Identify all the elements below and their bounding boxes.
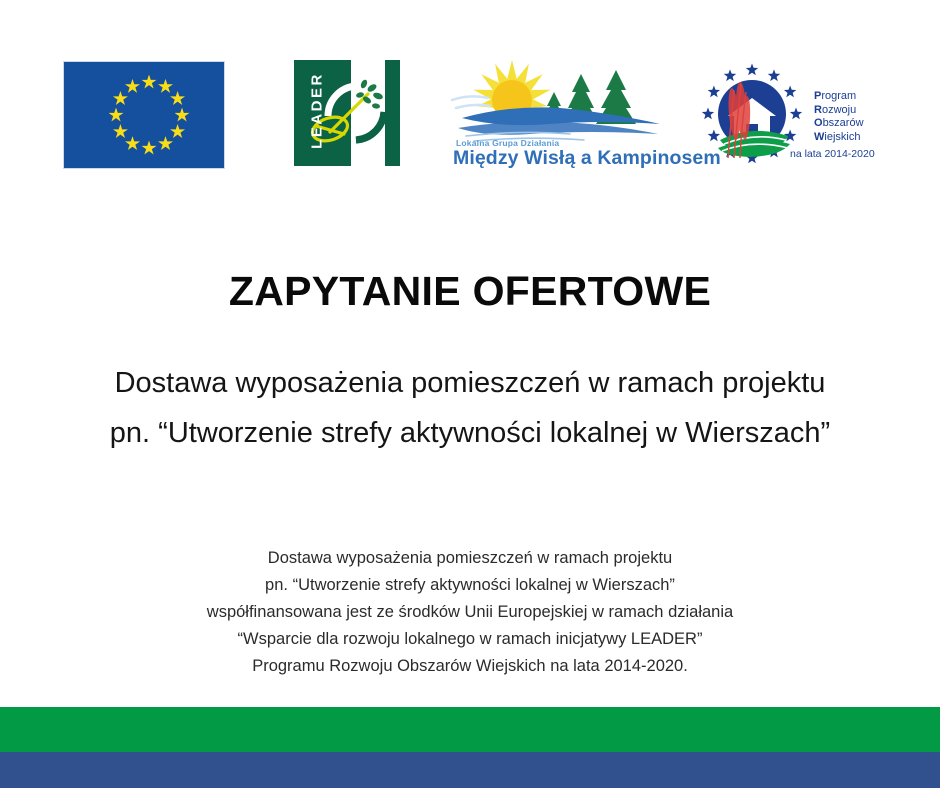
prow-star-icon <box>768 69 780 81</box>
prow-wordmark: ProgramRozwojuObszarówWiejskich <box>814 90 864 144</box>
prow-star-icon <box>790 108 802 120</box>
poster-page: LEADER <box>0 0 940 788</box>
prow-wordmark-line: Rozwoju <box>814 104 864 118</box>
eu-star-icon <box>125 79 140 94</box>
lgd-logo: Lokalna Grupa Działania Między Wisłą a K… <box>450 58 665 168</box>
eu-star-icon <box>170 124 185 139</box>
funding-statement-line: współfinansowana jest ze środków Unii Eu… <box>0 599 940 626</box>
eu-star-icon <box>175 108 190 123</box>
prow-star-icon <box>724 69 736 81</box>
page-title: ZAPYTANIE OFERTOWE <box>0 268 940 315</box>
subtitle-line: pn. “Utworzenie strefy aktywności lokaln… <box>0 408 940 458</box>
prow-wordmark-line: Obszarów <box>814 117 864 131</box>
prow-wordmark-initial: R <box>814 104 822 116</box>
lgd-name: Między Wisłą a Kampinosem <box>453 147 721 170</box>
funding-statement: Dostawa wyposażenia pomieszczeń w ramach… <box>0 545 940 680</box>
prow-logo: ProgramRozwojuObszarówWiejskich na lata … <box>692 62 878 168</box>
logo-bar: LEADER <box>0 0 940 190</box>
prow-wordmark-rest: iejskich <box>824 131 860 143</box>
prow-star-icon <box>746 64 758 76</box>
prow-wordmark-line: Program <box>814 90 864 104</box>
prow-star-icon <box>708 86 720 98</box>
funding-statement-line: Programu Rozwoju Obszarów Wiejskich na l… <box>0 653 940 680</box>
prow-star-icon <box>784 86 796 98</box>
eu-flag-logo <box>63 61 225 169</box>
prow-star-icon <box>708 130 720 142</box>
prow-wordmark-rest: bszarów <box>823 117 864 129</box>
eu-star-icon <box>113 91 128 106</box>
subtitle-line: Dostawa wyposażenia pomieszczeń w ramach… <box>0 358 940 408</box>
leader-logo: LEADER <box>294 60 400 166</box>
prow-wordmark-line: Wiejskich <box>814 131 864 145</box>
eu-star-icon <box>109 108 124 123</box>
funding-statement-line: Dostawa wyposażenia pomieszczeń w ramach… <box>0 545 940 572</box>
prow-wordmark-initial: W <box>814 131 824 143</box>
river-waves <box>458 107 660 134</box>
eu-star-icon <box>113 124 128 139</box>
funding-statement-line: “Wsparcie dla rozwoju lokalnego w ramach… <box>0 626 940 653</box>
page-subtitle: Dostawa wyposażenia pomieszczeń w ramach… <box>0 358 940 458</box>
sun-river-trees-icon <box>450 58 665 146</box>
eu-star-icon <box>158 136 173 151</box>
eu-star-icon <box>170 91 185 106</box>
eu-star-icon <box>142 75 157 90</box>
prow-star-icon <box>702 108 714 120</box>
prow-wordmark-rest: ozwoju <box>822 104 856 116</box>
eu-star-icon <box>125 136 140 151</box>
eu-star-icon <box>142 141 157 156</box>
prow-wordmark-rest: rogram <box>821 90 856 102</box>
funding-statement-line: pn. “Utworzenie strefy aktywności lokaln… <box>0 572 940 599</box>
footer-blue-bar <box>0 752 940 788</box>
eu-stars-icon <box>116 82 182 148</box>
prow-years-label: na lata 2014-2020 <box>790 148 875 160</box>
footer-green-bar <box>0 707 940 752</box>
eu-star-icon <box>158 79 173 94</box>
leader-wordmark: LEADER <box>309 65 326 157</box>
prow-wordmark-initial: O <box>814 117 823 129</box>
